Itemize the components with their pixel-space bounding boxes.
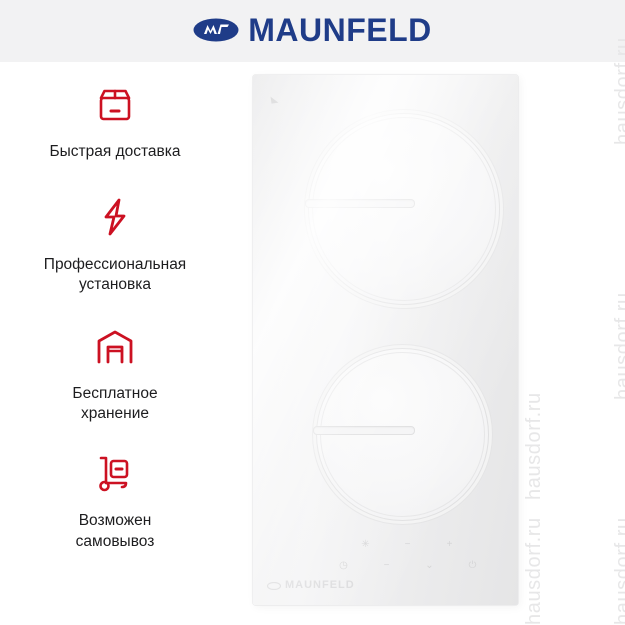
induction-cooktop: ◣ ✳ − + ◷ − ⌄ ⏻ MAUN (253, 75, 518, 605)
timer-key[interactable]: ◷ (335, 557, 352, 574)
power-level-indicator-key[interactable]: ✳ (357, 536, 374, 553)
surface-corner-mark: ◣ (270, 95, 279, 105)
minus-key-secondary[interactable]: − (378, 557, 395, 574)
features-column: Быстрая доставка Профессиональная устано… (0, 78, 230, 552)
feature-label: Быстрая доставка (49, 142, 180, 163)
maunfeld-oval-emblem-small (267, 582, 281, 590)
hand-truck-icon (92, 447, 138, 501)
burner-zone-top[interactable] (308, 113, 500, 305)
feature-label: Бесплатное хранение (72, 384, 157, 425)
burner-slot (305, 199, 415, 208)
feature-label: Профессиональная установка (44, 255, 186, 296)
touch-control-panel: ✳ − + ◷ − ⌄ ⏻ (253, 523, 518, 605)
brand-logo: MAUNFELD (193, 14, 432, 46)
minus-key[interactable]: − (399, 536, 416, 553)
delivery-box-icon (94, 78, 136, 132)
burner-ring (312, 117, 496, 301)
feature-self-pickup: Возможен самовывоз (10, 447, 220, 552)
cooktop-brand-mark: MAUNFELD (267, 580, 355, 591)
header-band: MAUNFELD (0, 0, 625, 62)
lightning-bolt-icon (97, 191, 133, 245)
burner-zone-bottom[interactable] (316, 348, 489, 521)
burner-slot (313, 426, 415, 435)
brand-wordmark: MAUNFELD (248, 14, 432, 46)
product-stage: ◣ ✳ − + ◷ − ⌄ ⏻ MAUN (230, 62, 625, 625)
plus-key[interactable]: + (441, 536, 458, 553)
touch-row-upper: ✳ − + (357, 536, 458, 553)
touch-row-lower: ◷ − ⌄ ⏻ (335, 557, 481, 574)
feature-professional-installation: Профессиональная установка (10, 191, 220, 296)
feature-fast-delivery: Быстрая доставка (10, 78, 220, 163)
feature-free-storage: Бесплатное хранение (10, 320, 220, 425)
cooktop-brand-text: MAUNFELD (285, 580, 355, 591)
warehouse-icon (93, 320, 137, 374)
feature-label: Возможен самовывоз (76, 511, 155, 552)
power-key[interactable]: ⏻ (464, 557, 481, 574)
maunfeld-oval-emblem (193, 17, 239, 43)
lock-key[interactable]: ⌄ (421, 557, 438, 574)
